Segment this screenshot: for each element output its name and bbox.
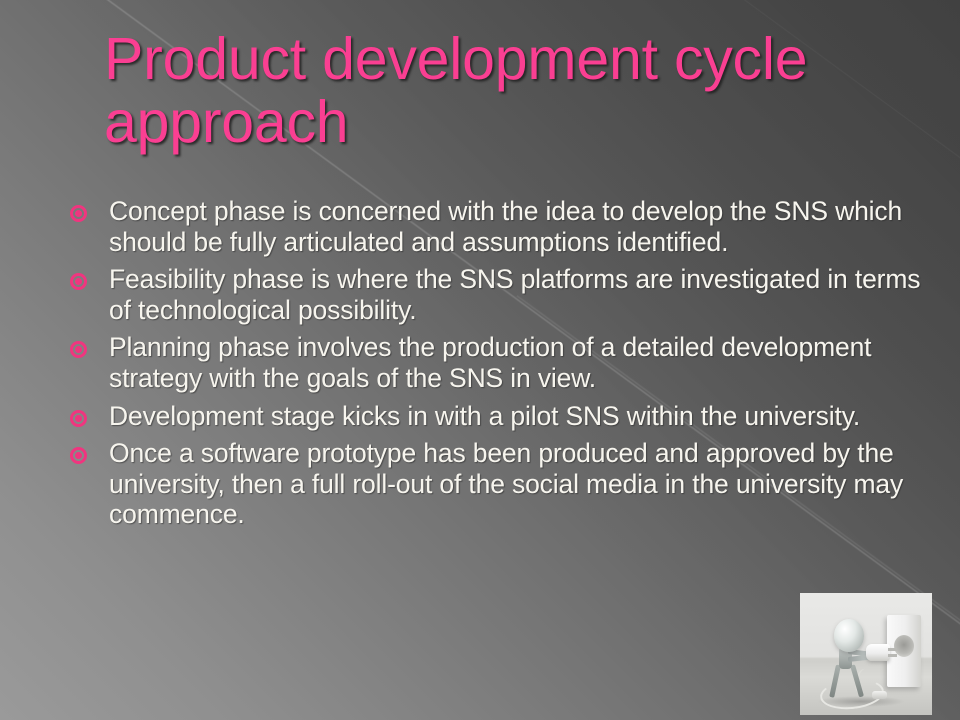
list-item-text: Once a software prototype has been produ…: [109, 438, 903, 529]
list-item-text: Planning phase involves the production o…: [109, 332, 871, 393]
presentation-slide: Product development cycle approach Conce…: [0, 0, 960, 720]
target-bullet-icon: [70, 410, 87, 427]
target-bullet-icon: [70, 447, 87, 464]
list-item-text: Concept phase is concerned with the idea…: [109, 196, 902, 257]
list-item: Feasibility phase is where the SNS platf…: [62, 264, 924, 325]
target-bullet-icon: [70, 273, 87, 290]
electric-plug-icon: [866, 644, 890, 661]
list-item: Concept phase is concerned with the idea…: [62, 196, 924, 257]
robot-lightbulb-plugging-socket-image: [800, 593, 932, 715]
target-bullet-icon: [70, 205, 87, 222]
wall-socket-icon: [887, 615, 921, 687]
list-item: Planning phase involves the production o…: [62, 332, 924, 393]
list-item: Development stage kicks in with a pilot …: [62, 401, 924, 432]
list-item-text: Feasibility phase is where the SNS platf…: [109, 264, 920, 325]
lightbulb-icon: [834, 619, 864, 652]
target-bullet-icon: [70, 341, 87, 358]
bullet-list: Concept phase is concerned with the idea…: [62, 196, 924, 537]
slide-title: Product development cycle approach: [104, 28, 914, 154]
floor-plug-icon: [872, 691, 887, 699]
list-item: Once a software prototype has been produ…: [62, 438, 924, 530]
list-item-text: Development stage kicks in with a pilot …: [109, 401, 860, 431]
